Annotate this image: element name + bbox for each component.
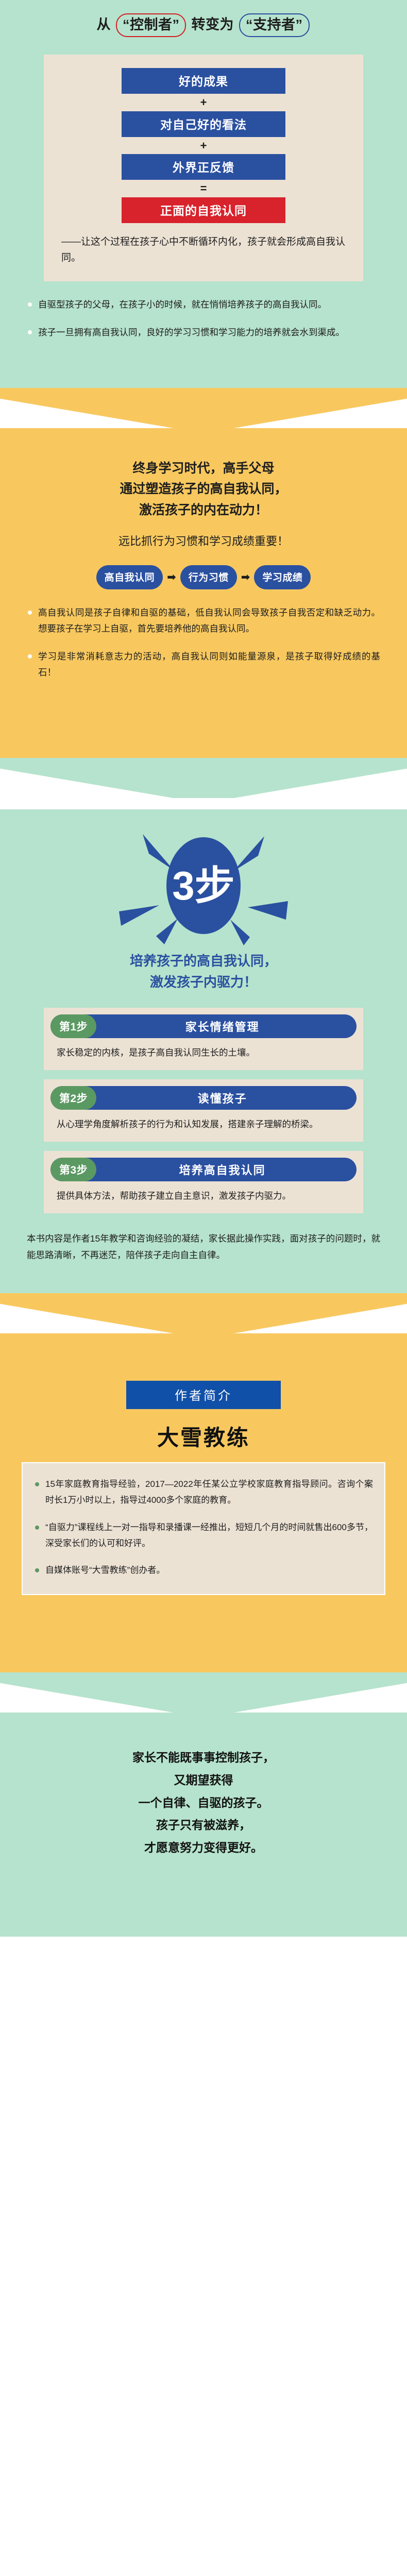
yellow-heading: 终身学习时代，高手父母 通过塑造孩子的高自我认同， 激活孩子的内在动力！ (0, 428, 407, 521)
pill-controller: “控制者” (116, 13, 186, 37)
step-number-badge: 第1步 (50, 1014, 96, 1038)
author-bio-box: 15年家庭教育指导经验，2017—2022年任某公立学校家庭教育指导顾问。咨询个… (22, 1462, 385, 1596)
arrow-right-icon: ➡ (241, 572, 250, 583)
pill-supporter: “支持者” (239, 13, 310, 37)
quote-line: 才愿意努力变得更好。 (15, 1837, 392, 1859)
spacer (0, 681, 407, 758)
quote-line: 孩子只有被滋养， (15, 1814, 392, 1837)
spacer (0, 1595, 407, 1672)
step-description: 家长稳定的内核，是孩子高自我认同生长的土壤。 (50, 1038, 357, 1061)
yellow-bullet-list: 高自我认同是孩子自律和自驱的基础，低自我认同会导致孩子自我否定和缺乏动力。想要孩… (0, 589, 407, 681)
author-section-tag: 作者简介 (126, 1381, 281, 1409)
badge-burst-graphic: 3步 (95, 809, 312, 950)
spacer (0, 1263, 407, 1293)
heading-line: 培养孩子的高自我认同， (15, 951, 392, 972)
formula-item-1: 好的成果 (122, 68, 285, 94)
spacer (0, 1333, 407, 1381)
formula-note: ——让这个过程在孩子心中不断循环内化，孩子就会形成高自我认同。 (57, 234, 350, 266)
step-card-list: 第1步 家长情绪管理 家长稳定的内核，是孩子高自我认同生长的土壤。 第2步 读懂… (0, 993, 407, 1213)
quote-line: 家长不能既事事控制孩子， (15, 1747, 392, 1769)
step-number-badge: 第3步 (50, 1158, 96, 1181)
divider-chevron-teal-to-yellow (0, 388, 407, 428)
section-author-bio: 作者简介 大雪教练 15年家庭教育指导经验，2017—2022年任某公立学校家庭… (0, 1333, 407, 1673)
title-prefix: 从 (96, 16, 111, 32)
heading-line: 终身学习时代，高手父母 (21, 458, 386, 479)
step-card: 第1步 家长情绪管理 家长稳定的内核，是孩子高自我认同生长的土壤。 (44, 1008, 363, 1070)
step-title: 培养高自我认同 (96, 1158, 357, 1181)
step-header: 第3步 培养高自我认同 (50, 1158, 357, 1181)
quote-line: 一个自律、自驱的孩子。 (15, 1792, 392, 1815)
section-final-quote: 家长不能既事事控制孩子， 又期望获得 一个自律、自驱的孩子。 孩子只有被滋养， … (0, 1713, 407, 1936)
flow-node-1: 高自我认同 (96, 565, 163, 589)
formula-operator-1: + (57, 94, 350, 111)
formula-result: 正面的自我认同 (122, 197, 285, 223)
teal-bullet-list: 自驱型孩子的父母，在孩子小的时候，就在悄悄培养孩子的高自我认同。 孩子一旦拥有高… (0, 281, 407, 340)
yellow-subheading: 远比抓行为习惯和学习成绩重要！ (0, 520, 407, 550)
heading-line: 激活孩子的内在动力！ (21, 500, 386, 521)
formula-operator-2: + (57, 137, 350, 155)
heading-line: 激发孩子内驱力！ (15, 972, 392, 993)
author-name: 大雪教练 (0, 1409, 407, 1462)
formula-operator-3: = (57, 180, 350, 197)
three-step-badge: 3步 (0, 809, 407, 950)
step-number-badge: 第2步 (50, 1086, 96, 1110)
chevron-shape-main (0, 388, 407, 428)
heading-line: 通过塑造孩子的高自我认同， (21, 479, 386, 500)
chevron-shape-main (0, 1293, 407, 1333)
list-item: 孩子一旦拥有高自我认同，良好的学习习惯和学习能力的培养就会水到渠成。 (27, 325, 380, 341)
divider-chevron-yellow-to-teal (0, 758, 407, 798)
list-item: 自驱型孩子的父母，在孩子小的时候，就在悄悄培养孩子的高自我认同。 (27, 297, 380, 313)
list-item: 高自我认同是孩子自律和自驱的基础，低自我认同会导致孩子自我否定和缺乏动力。想要孩… (27, 605, 380, 637)
page-title: 从 “控制者” 转变为 “支持者” (0, 0, 407, 47)
badge-number: 3步 (172, 863, 234, 908)
flow-node-3: 学习成绩 (254, 565, 311, 589)
list-item: 15年家庭教育指导经验，2017—2022年任某公立学校家庭教育指导顾问。咨询个… (34, 1477, 373, 1509)
spacer (0, 341, 407, 388)
spacer (0, 1859, 407, 1937)
divider-chevron-teal-to-yellow-2 (0, 1293, 407, 1333)
list-item: 学习是非常消耗意志力的活动，高自我认同则如能量源泉，是孩子取得好成绩的基石！ (27, 649, 380, 681)
divider-chevron-yellow-to-teal-2 (0, 1672, 407, 1713)
three-step-heading: 培养孩子的高自我认同， 激发孩子内驱力！ (0, 950, 407, 993)
step-description: 从心理学角度解析孩子的行为和认知发展，搭建亲子理解的桥梁。 (50, 1110, 357, 1132)
formula-card: 好的成果 + 对自己好的看法 + 外界正反馈 = 正面的自我认同 ——让这个过程… (44, 55, 363, 281)
step-header: 第1步 家长情绪管理 (50, 1014, 357, 1038)
step-title: 读懂孩子 (96, 1086, 357, 1110)
step-description: 提供具体方法，帮助孩子建立自主意识，激发孩子内驱力。 (50, 1181, 357, 1204)
step-card: 第3步 培养高自我认同 提供具体方法，帮助孩子建立自主意识，激发孩子内驱力。 (44, 1151, 363, 1213)
flow-diagram: 高自我认同 ➡ 行为习惯 ➡ 学习成绩 (0, 550, 407, 589)
list-item: 自媒体账号“大雪教练”创办者。 (34, 1563, 373, 1579)
title-middle: 转变为 (192, 16, 234, 32)
three-step-closing-paragraph: 本书内容是作者15年教学和咨询经验的凝结，家长据此操作实践，面对孩子的问题时，就… (0, 1213, 407, 1263)
step-card: 第2步 读懂孩子 从心理学角度解析孩子的行为和认知发展，搭建亲子理解的桥梁。 (44, 1079, 363, 1142)
section-three-steps: 3步 培养孩子的高自我认同， 激发孩子内驱力！ 第1步 家长情绪管理 家长稳定的… (0, 809, 407, 1293)
final-quote: 家长不能既事事控制孩子， 又期望获得 一个自律、自驱的孩子。 孩子只有被滋养， … (0, 1713, 407, 1859)
arrow-right-icon: ➡ (167, 572, 176, 583)
section-self-identity-formula: 从 “控制者” 转变为 “支持者” 好的成果 + 对自己好的看法 + 外界正反馈… (0, 0, 407, 388)
infographic-page: 从 “控制者” 转变为 “支持者” 好的成果 + 对自己好的看法 + 外界正反馈… (0, 0, 407, 2576)
formula-item-2: 对自己好的看法 (122, 111, 285, 137)
step-title: 家长情绪管理 (96, 1014, 357, 1038)
formula-item-3: 外界正反馈 (122, 154, 285, 180)
quote-line: 又期望获得 (15, 1769, 392, 1792)
chevron-shape-main (0, 1672, 407, 1713)
list-item: “自驱力”课程线上一对一指导和录播课一经推出，短短几个月的时间就售出600多节，… (34, 1520, 373, 1552)
section-lifelong-learning: 终身学习时代，高手父母 通过塑造孩子的高自我认同， 激活孩子的内在动力！ 远比抓… (0, 428, 407, 758)
chevron-shape-main (0, 758, 407, 798)
formula-stack: 好的成果 + 对自己好的看法 + 外界正反馈 = 正面的自我认同 (57, 68, 350, 223)
flow-node-2: 行为习惯 (180, 565, 237, 589)
step-header: 第2步 读懂孩子 (50, 1086, 357, 1110)
